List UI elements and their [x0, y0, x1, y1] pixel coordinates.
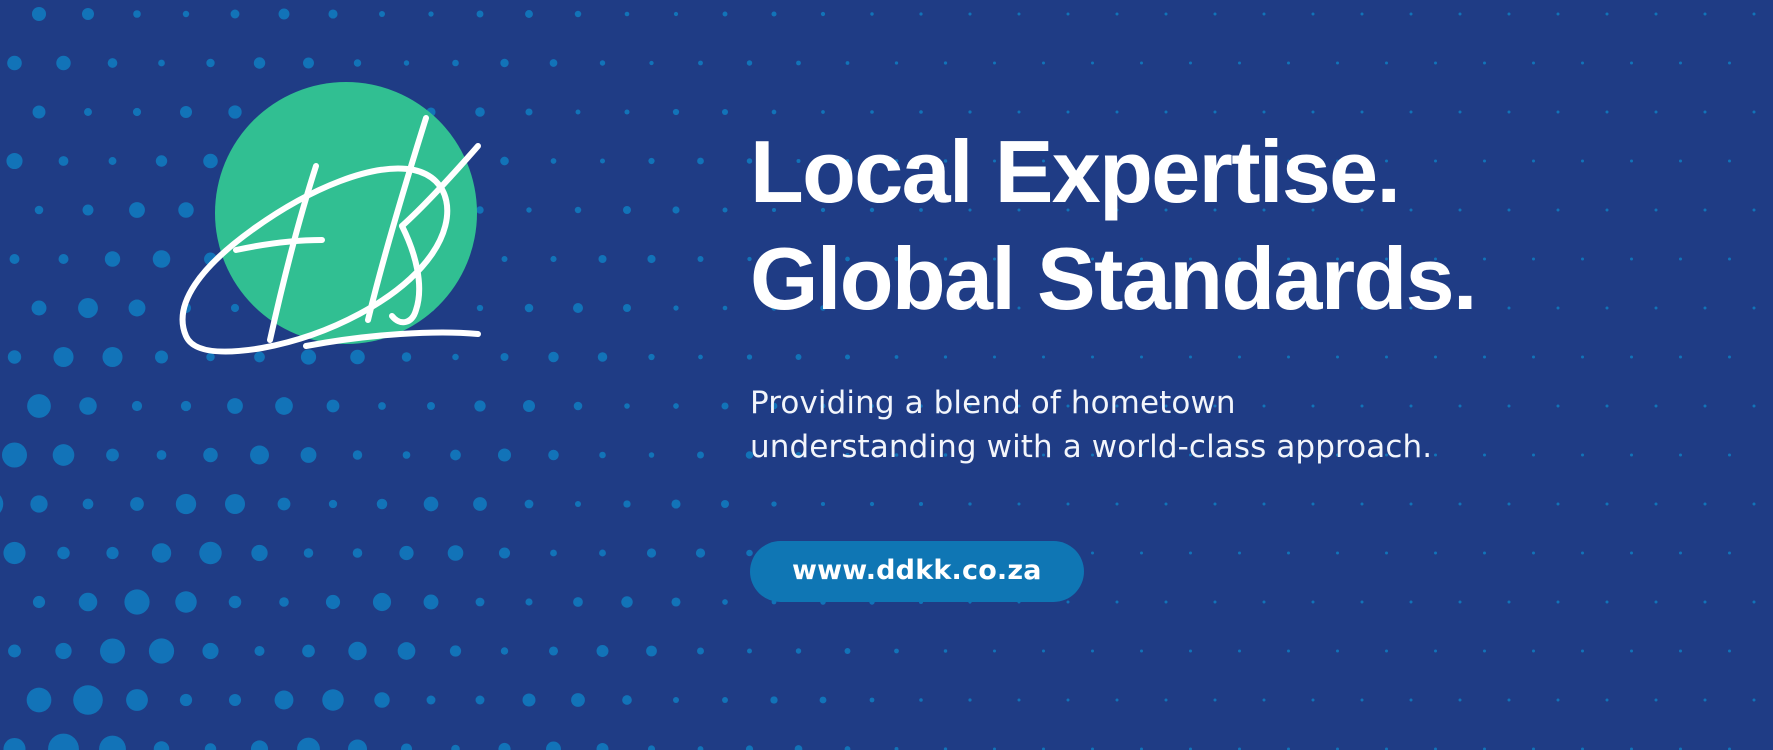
- promo-banner: Local Expertise. Global Standards. Provi…: [0, 0, 1773, 750]
- subtitle-line-2: understanding with a world-class approac…: [750, 425, 1680, 469]
- dk-logo: [178, 58, 508, 368]
- page-title: Local Expertise. Global Standards.: [750, 118, 1680, 333]
- subtitle-line-1: Providing a blend of hometown: [750, 381, 1680, 425]
- headline-line-1: Local Expertise.: [750, 118, 1680, 225]
- headline-line-2: Global Standards.: [750, 225, 1680, 332]
- logo-circle: [215, 82, 477, 344]
- copy-column: Local Expertise. Global Standards. Provi…: [750, 118, 1680, 602]
- subtitle: Providing a blend of hometown understand…: [750, 333, 1680, 469]
- website-link-button[interactable]: www.ddkk.co.za: [750, 541, 1084, 602]
- cta-container: www.ddkk.co.za: [750, 469, 1680, 602]
